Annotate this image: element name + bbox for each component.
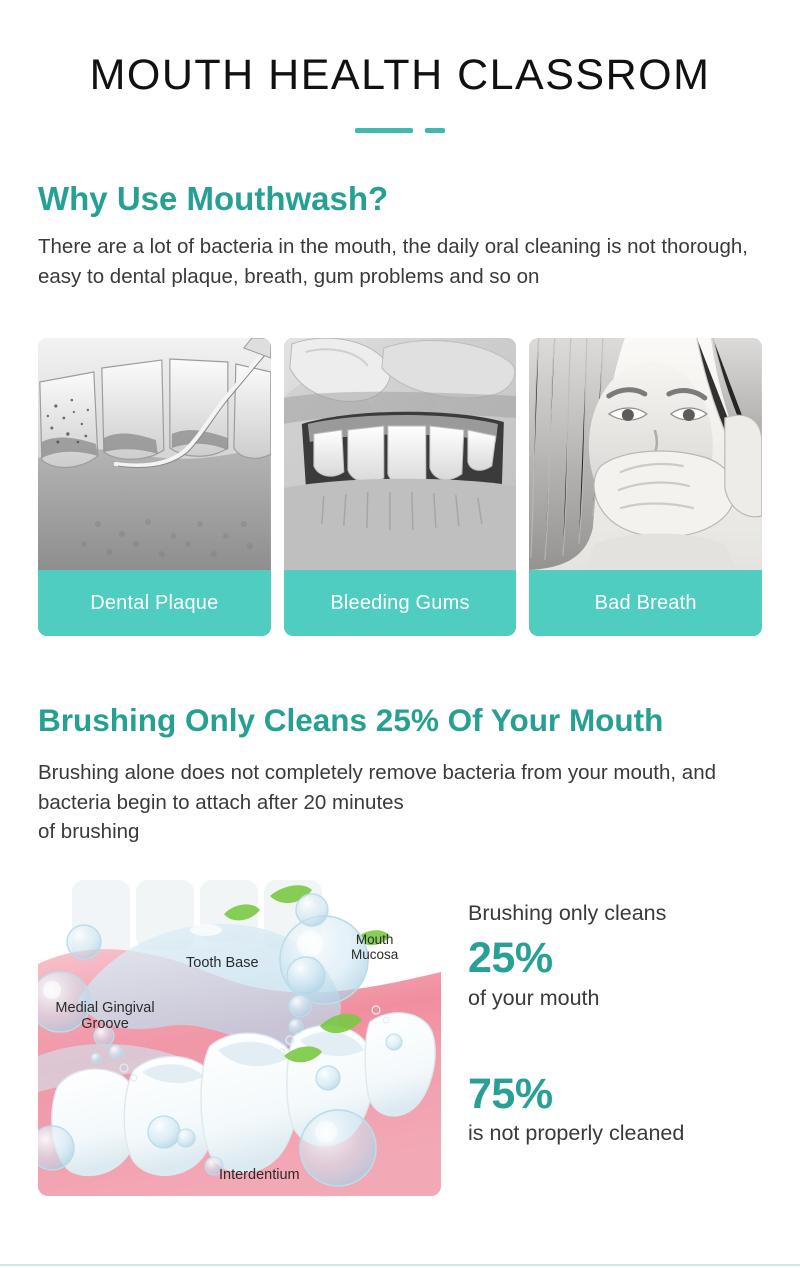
bleeding-gums-image: [284, 338, 517, 570]
label-tooth-base: Tooth Base: [186, 955, 259, 971]
condition-card-caption: Bad Breath: [529, 570, 762, 636]
dental-plaque-image: [38, 338, 271, 570]
condition-card-dental-plaque[interactable]: Dental Plaque: [38, 338, 271, 636]
stat-clean-percent: 25%: [468, 933, 788, 984]
condition-card-list: Dental Plaque: [38, 338, 762, 636]
label-interdentium: Interdentium: [219, 1167, 300, 1183]
divider-dash-long: [355, 128, 413, 133]
condition-card-caption: Dental Plaque: [38, 570, 271, 636]
brushing-stats-panel: Brushing only cleans 25% of your mouth 7…: [468, 900, 788, 1148]
stat-uncleaned-percent: 75%: [468, 1069, 788, 1120]
stat-clean-subtext: of your mouth: [468, 985, 788, 1013]
label-mouth-mucosa: Mouth Mucosa: [351, 932, 398, 962]
condition-card-caption: Bleeding Gums: [284, 570, 517, 636]
label-medial-gingival-groove: Medial Gingival Groove: [40, 1000, 170, 1032]
stat-block-uncleaned: 75% is not properly cleaned: [468, 1069, 788, 1149]
stat-uncleaned-subtext: is not properly cleaned: [468, 1120, 788, 1148]
bad-breath-image: [529, 338, 762, 570]
condition-card-bleeding-gums[interactable]: Bleeding Gums: [284, 338, 517, 636]
divider-dash-short: [425, 128, 445, 133]
section-brushing-body: Brushing alone does not completely remov…: [38, 758, 768, 847]
stat-lead-text: Brushing only cleans: [468, 900, 788, 928]
section-brushing-heading: Brushing Only Cleans 25% Of Your Mouth: [38, 702, 778, 738]
condition-card-bad-breath[interactable]: Bad Breath: [529, 338, 762, 636]
divider: [0, 128, 800, 133]
gum-cross-section-illustration: [38, 880, 441, 1196]
section-why-heading: Why Use Mouthwash?: [38, 180, 758, 218]
stat-block-clean: Brushing only cleans 25% of your mouth: [468, 900, 788, 1013]
footer-rule: [0, 1264, 800, 1266]
section-why-body: There are a lot of bacteria in the mouth…: [38, 232, 764, 291]
page-title: MOUTH HEALTH CLASSROM: [0, 52, 800, 99]
